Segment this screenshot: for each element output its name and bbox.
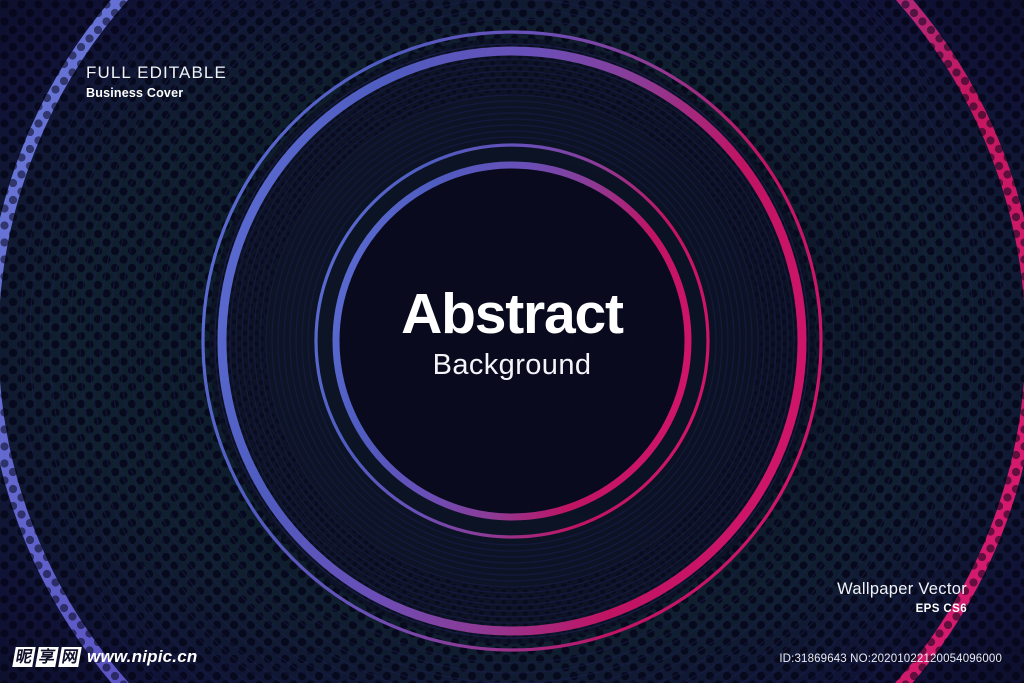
logo-glyph-3: 网: [58, 647, 82, 667]
watermark-id-text: ID:31869643 NO:20201022120054096000: [779, 653, 1002, 665]
watermark-url: www.nipic.cn: [87, 647, 197, 667]
wallpaper-vector-headline: Wallpaper Vector: [837, 580, 967, 599]
full-editable-headline: FULL EDITABLE: [86, 62, 227, 83]
poster-canvas: FULL EDITABLE Business Cover Abstract Ba…: [0, 0, 1024, 683]
top-left-text-block: FULL EDITABLE Business Cover: [86, 62, 227, 100]
business-cover-subhead: Business Cover: [86, 86, 227, 100]
bottom-right-text-block: Wallpaper Vector EPS CS6: [837, 580, 967, 615]
watermark-footer: 昵 享 网 www.nipic.cn ID:31869643 NO:202010…: [0, 641, 1024, 683]
center-text-block: Abstract Background: [0, 285, 1024, 382]
nipic-logo-icon: 昵 享 网: [14, 647, 80, 667]
eps-version-subhead: EPS CS6: [837, 603, 967, 615]
page-subtitle: Background: [0, 349, 1024, 382]
watermark-brand: 昵 享 网 www.nipic.cn: [14, 647, 197, 667]
logo-glyph-1: 昵: [12, 647, 36, 667]
logo-glyph-2: 享: [35, 647, 59, 667]
page-title: Abstract: [0, 285, 1024, 345]
